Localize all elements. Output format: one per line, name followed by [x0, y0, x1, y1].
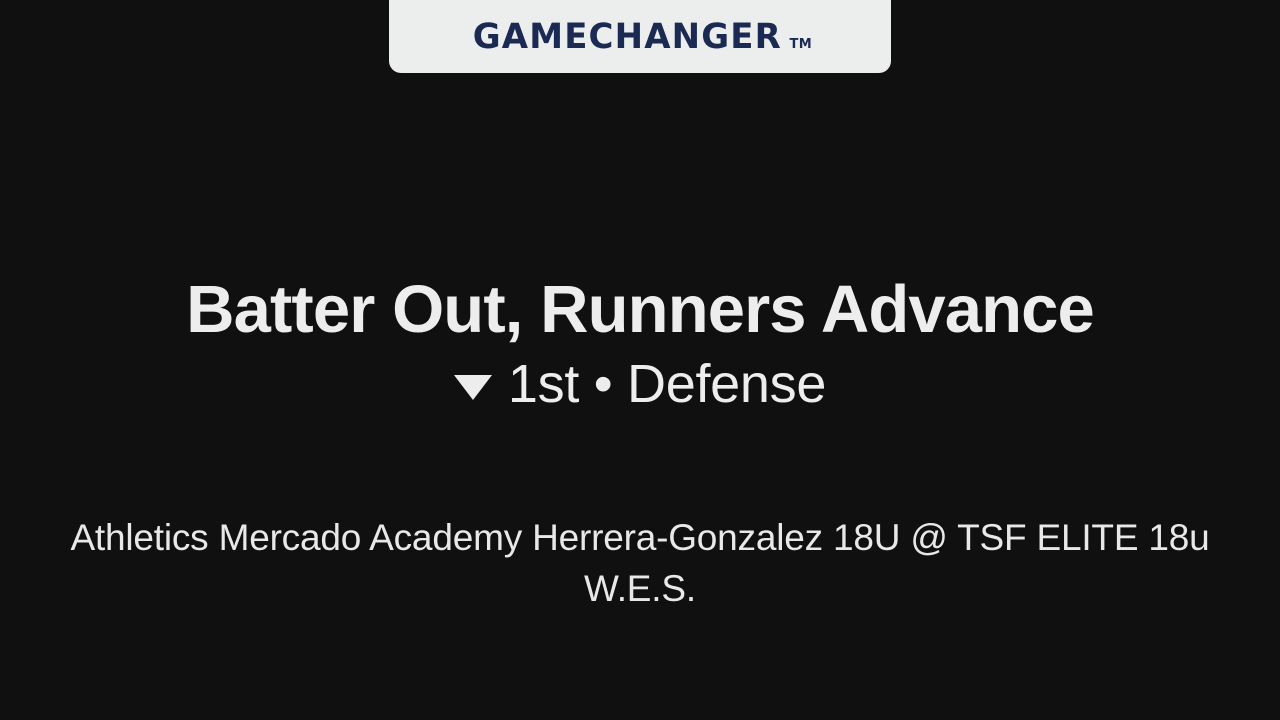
gamechanger-wordmark: GAMECHANGER TM [468, 20, 813, 55]
play-context-row: 1st • Defense [0, 357, 1280, 411]
triangle-down-icon [454, 375, 492, 400]
game-matchup-label: Athletics Mercado Academy Herrera-Gonzal… [64, 512, 1216, 614]
brand-name-text: GAMECHANGER [473, 20, 782, 55]
play-result-headline: Batter Out, Runners Advance [0, 276, 1280, 343]
gamechanger-logo-plate: GAMECHANGER TM [389, 0, 891, 73]
play-result-block: Batter Out, Runners Advance 1st • Defens… [0, 276, 1280, 411]
play-summary-screen: GAMECHANGER TM Batter Out, Runners Advan… [0, 0, 1280, 720]
trademark-symbol: TM [789, 38, 812, 51]
inning-and-side-label: 1st • Defense [508, 357, 826, 411]
